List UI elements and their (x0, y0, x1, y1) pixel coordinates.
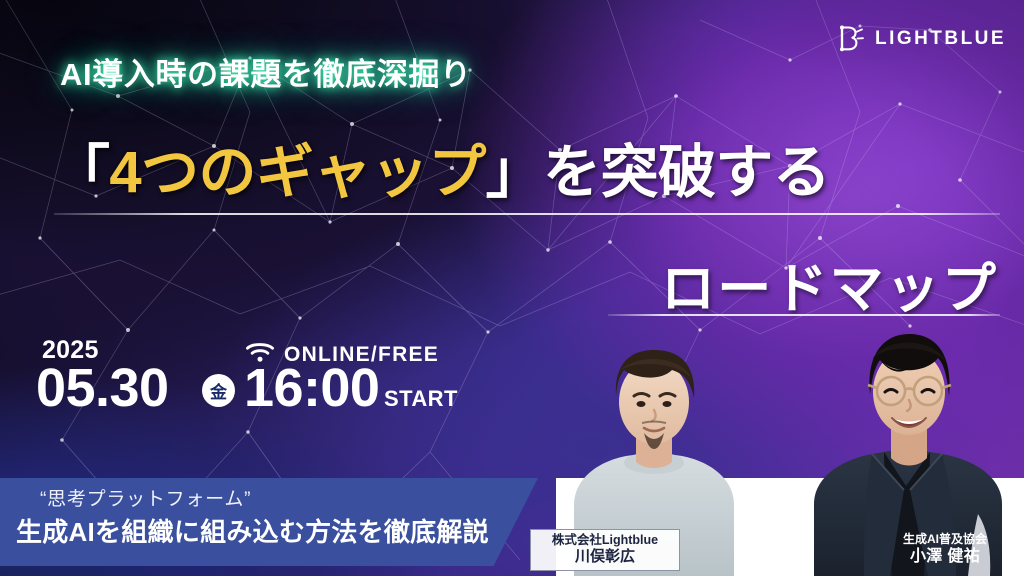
speaker-nameplate-left: 株式会社Lightblue 川俣彰広 (530, 529, 680, 571)
speaker-nameplate-right: 生成AI普及協会 小澤 健祐 (870, 527, 1020, 571)
banner-title: 生成AIを組織に組み込む方法を徹底解説 (16, 512, 489, 549)
hero-headline-line2: ロードマップ (661, 244, 998, 323)
banner-subtitle: “思考プラットフォーム” (40, 484, 251, 511)
hero-headline-line1: 「4つのギャップ」を突破する (52, 125, 830, 209)
event-date: 05.30 (36, 361, 168, 415)
speaker-name: 小澤 健祐 (910, 547, 980, 567)
webinar-banner: LIGHTBLUE AI導入時の課題を徹底深掘り 「4つのギャップ」を突破する … (0, 0, 1024, 576)
divider-line-top (54, 213, 1000, 215)
brand-logo-text: LIGHTBLUE (875, 28, 1006, 50)
event-time: 16:00 (244, 361, 379, 415)
hero-kicker: AI導入時の課題を徹底深掘り (60, 49, 472, 94)
event-weekday-badge: 金 (202, 374, 235, 407)
wifi-icon (245, 340, 275, 364)
lightblue-b-mark-icon (832, 22, 866, 56)
speaker-org: 株式会社Lightblue (552, 533, 658, 548)
brand-logo[interactable]: LIGHTBLUE (832, 22, 1006, 56)
speaker-name: 川俣彰広 (575, 548, 635, 566)
divider-line-bottom (608, 314, 1000, 316)
headline-highlight: 4つのギャップ (109, 140, 485, 205)
headline-rest: 」を突破する (486, 140, 831, 205)
headline-bracket-open: 「 (52, 140, 109, 205)
event-format-label: ONLINE/FREE (284, 343, 439, 367)
speaker-org: 生成AI普及協会 (903, 532, 987, 547)
event-start-label: START (384, 386, 458, 412)
